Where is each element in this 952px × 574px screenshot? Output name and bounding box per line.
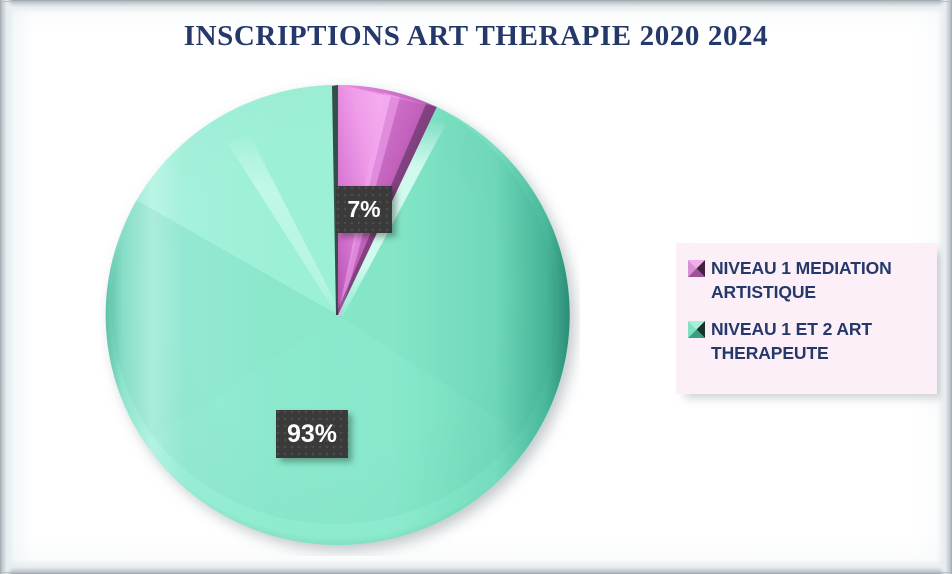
pie-chart bbox=[100, 78, 580, 556]
chart-legend: NIVEAU 1 MEDIATION ARTISTIQUE NIVEAU 1 E… bbox=[676, 243, 937, 394]
legend-item-niveau-1-et-2-art-therapeute[interactable]: NIVEAU 1 ET 2 ART THERAPEUTE bbox=[688, 318, 927, 365]
legend-item-niveau-1-mediation-artistique[interactable]: NIVEAU 1 MEDIATION ARTISTIQUE bbox=[688, 257, 927, 304]
legend-label-line-1: NIVEAU 1 ET 2 ART bbox=[711, 318, 872, 342]
data-label-slice-0: 7% bbox=[336, 186, 392, 233]
legend-label: NIVEAU 1 ET 2 ART THERAPEUTE bbox=[711, 318, 872, 365]
legend-label-line-2: THERAPEUTE bbox=[711, 342, 872, 366]
legend-key-icon bbox=[688, 260, 705, 277]
pie-chart-svg bbox=[100, 78, 580, 556]
legend-label-line-2: ARTISTIQUE bbox=[711, 281, 892, 305]
legend-label-line-1: NIVEAU 1 MEDIATION bbox=[711, 257, 892, 281]
chart-canvas: INSCRIPTIONS ART THERAPIE 2020 2024 bbox=[0, 0, 952, 574]
data-label-slice-1: 93% bbox=[276, 410, 348, 458]
legend-label: NIVEAU 1 MEDIATION ARTISTIQUE bbox=[711, 257, 892, 304]
page-title: INSCRIPTIONS ART THERAPIE 2020 2024 bbox=[0, 20, 952, 53]
legend-key-icon bbox=[688, 321, 705, 338]
